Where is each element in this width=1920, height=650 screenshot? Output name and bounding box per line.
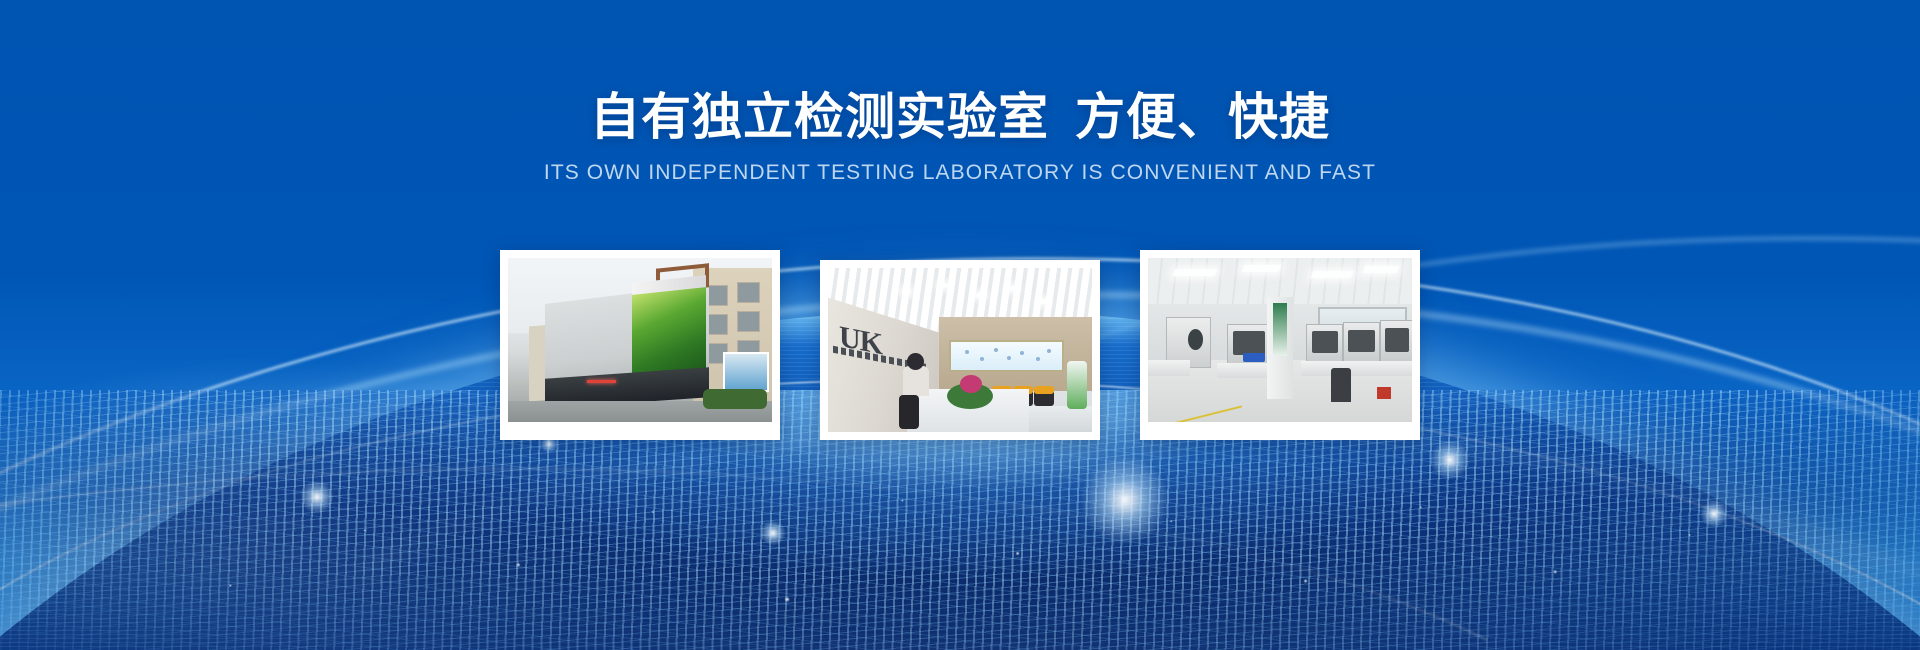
photo3-pillar (1267, 297, 1293, 399)
photo1-led-sign (587, 380, 616, 383)
light-flare-far-right (1700, 500, 1728, 528)
promo-banner: 自有独立检测实验室方便、快捷 ITS OWN INDEPENDENT TESTI… (0, 0, 1920, 650)
city-light-sparks (0, 420, 1920, 650)
photo2-kiosk (1067, 361, 1087, 409)
photo3-test-chamber-3 (1380, 320, 1412, 365)
page-title-part2: 方便、快捷 (1075, 89, 1330, 145)
page-subtitle: ITS OWN INDEPENDENT TESTING LABORATORY I… (0, 161, 1920, 185)
testing-laboratory-photo (1148, 258, 1412, 422)
photo3-lab-chair (1331, 368, 1351, 402)
page-title: 自有独立检测实验室方便、快捷 (0, 90, 1920, 145)
photo3-test-chamber-1 (1306, 324, 1342, 365)
photo2-desk-chair (899, 395, 919, 429)
headline-block: 自有独立检测实验室方便、快捷 ITS OWN INDEPENDENT TESTI… (0, 90, 1920, 185)
photo2-staff-body (903, 366, 929, 396)
photo3-red-equipment (1377, 387, 1391, 399)
reception-lobby-photo: UK (828, 268, 1092, 432)
photo3-bench-left (1148, 360, 1190, 376)
light-flare-center (1080, 455, 1170, 545)
light-flare-left (300, 480, 334, 514)
photo3-pillar-signage (1273, 303, 1288, 356)
light-flare-right (1430, 440, 1470, 480)
photo-strip: UK (0, 250, 1920, 440)
photo2-flowers (960, 375, 982, 393)
photo1-poster-board (723, 352, 769, 392)
company-building-exterior-photo (508, 258, 772, 422)
photo-frame-reception[interactable]: UK (820, 260, 1100, 440)
photo1-billboard-green (632, 287, 706, 377)
photo3-test-chamber-2 (1343, 322, 1379, 365)
photo3-bench-right (1301, 361, 1412, 376)
photo-frame-laboratory[interactable] (1140, 250, 1420, 440)
photo2-display-screen (949, 340, 1064, 372)
photo-frame-building[interactable] (500, 250, 780, 440)
light-flare-mid (760, 520, 786, 546)
photo3-blue-tray (1243, 353, 1265, 362)
page-title-part1: 自有独立检测实验室 (590, 89, 1049, 145)
photo1-hedge (703, 389, 766, 409)
